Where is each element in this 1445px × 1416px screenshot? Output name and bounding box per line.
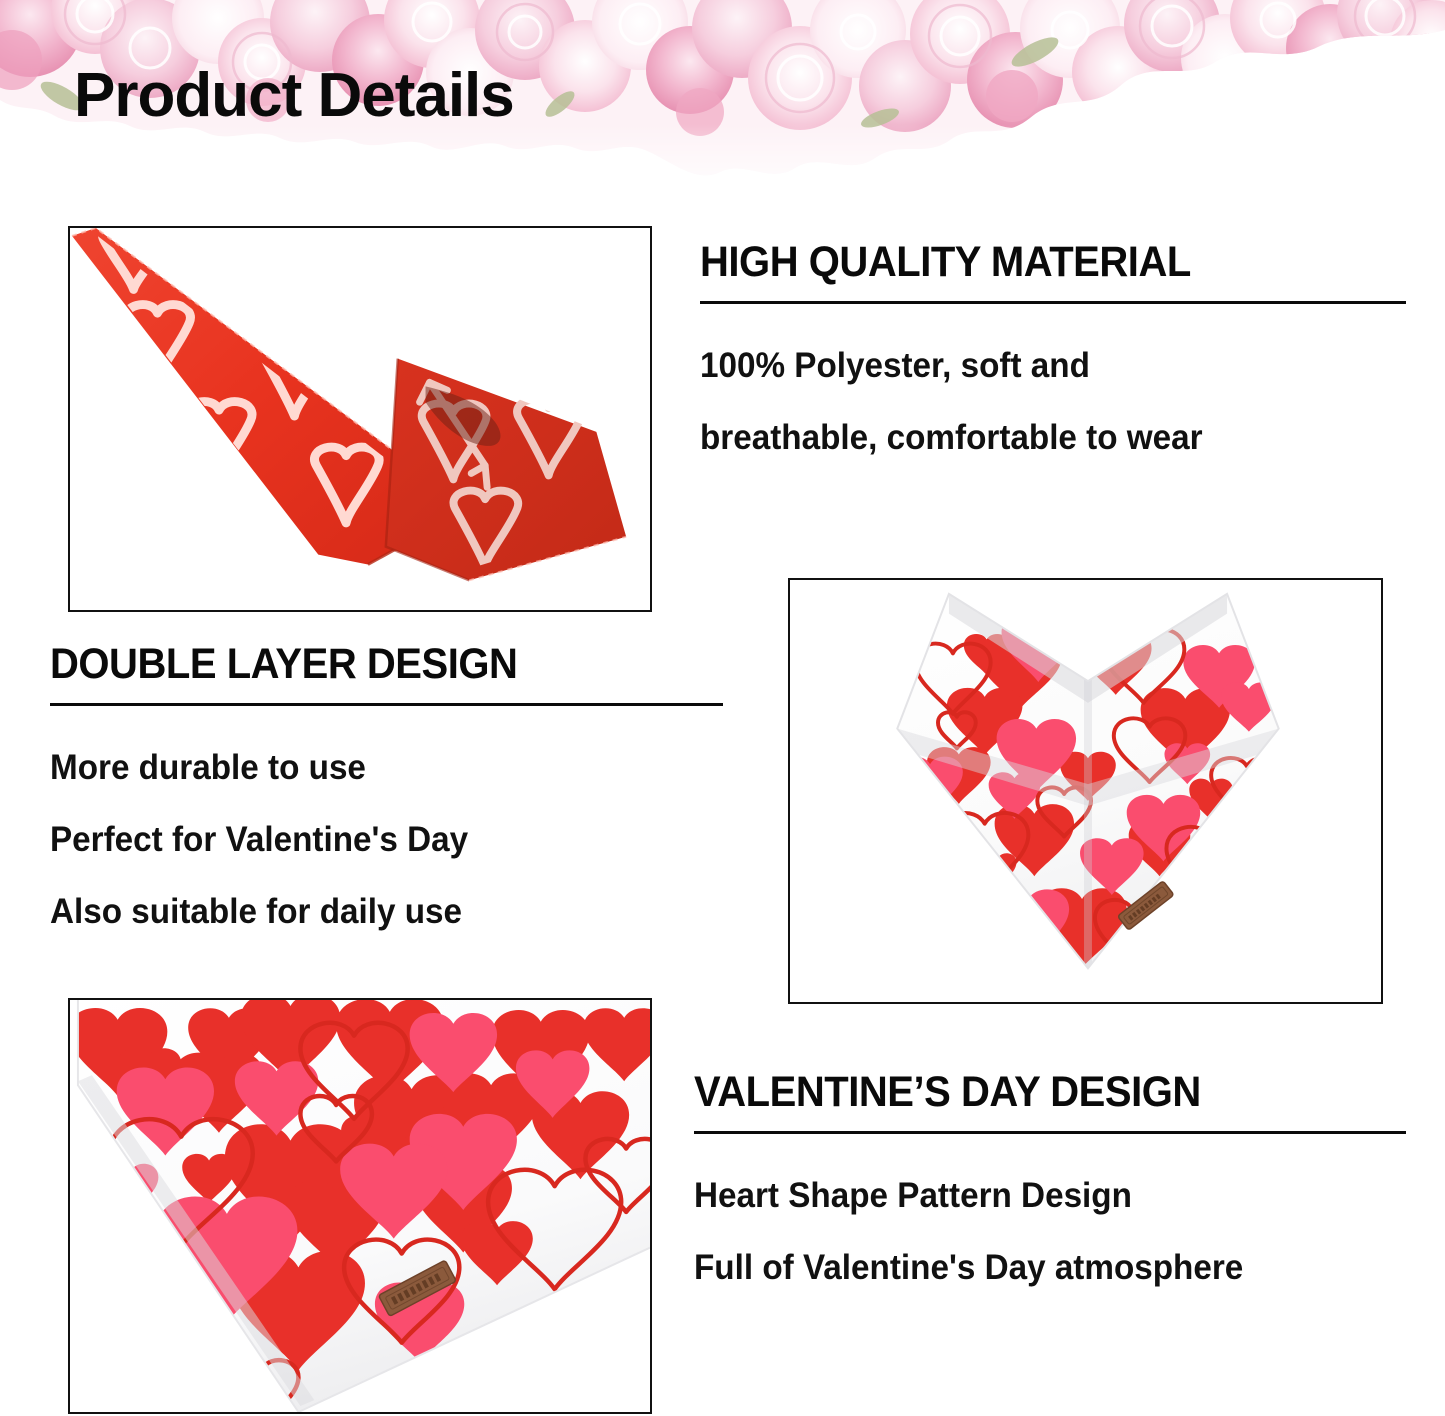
- feature-heading: VALENTINE’S DAY DESIGN: [694, 1068, 1356, 1117]
- product-photo-white-bandana-tied: [788, 578, 1383, 1004]
- feature-body-line: Also suitable for daily use: [50, 876, 689, 948]
- feature-divider: [694, 1131, 1406, 1134]
- feature-body-line: More durable to use: [50, 732, 689, 804]
- feature-body: More durable to use Perfect for Valentin…: [50, 732, 723, 948]
- feature-double-layer-design: DOUBLE LAYER DESIGN More durable to use …: [50, 640, 723, 948]
- feature-high-quality-material: HIGH QUALITY MATERIAL 100% Polyester, so…: [700, 238, 1406, 474]
- feature-body-line: 100% Polyester, soft and: [700, 330, 1371, 402]
- feature-body-line: breathable, comfortable to wear: [700, 402, 1371, 474]
- product-photo-white-bandana-flat: [68, 998, 652, 1414]
- feature-valentines-day-design: VALENTINE’S DAY DESIGN Heart Shape Patte…: [694, 1068, 1406, 1304]
- feature-heading: DOUBLE LAYER DESIGN: [50, 640, 676, 689]
- feature-body: 100% Polyester, soft and breathable, com…: [700, 330, 1406, 474]
- feature-body-line: Full of Valentine's Day atmosphere: [694, 1232, 1370, 1304]
- feature-heading: HIGH QUALITY MATERIAL: [700, 238, 1357, 287]
- feature-divider: [700, 301, 1406, 304]
- feature-divider: [50, 703, 723, 706]
- feature-body-line: Heart Shape Pattern Design: [694, 1160, 1370, 1232]
- page-title: Product Details: [74, 60, 514, 131]
- feature-body: Heart Shape Pattern Design Full of Valen…: [694, 1160, 1406, 1304]
- product-details-page: Product Details: [0, 0, 1445, 1416]
- feature-body-line: Perfect for Valentine's Day: [50, 804, 689, 876]
- product-photo-red-bandana-folded-edge: [68, 226, 652, 612]
